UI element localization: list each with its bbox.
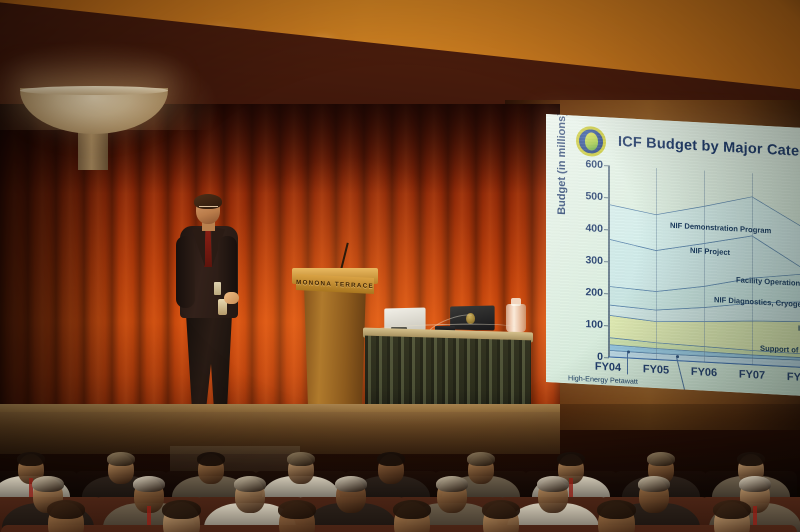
audience-member-hair xyxy=(737,452,765,466)
x-tick-fy06: FY06 xyxy=(691,366,717,379)
seal-emblem-icon xyxy=(585,132,598,151)
speaker-legs xyxy=(184,314,234,410)
y-tick-600: 600 xyxy=(585,158,603,171)
audience-member-hair xyxy=(234,476,267,492)
lectern-sign-text: MONONA TERRACE xyxy=(296,278,374,289)
audience-member-hair xyxy=(482,500,520,519)
audience-member-hair xyxy=(436,476,469,492)
x-tick-fy08: FY08 xyxy=(787,371,800,384)
audience-member-hair xyxy=(197,452,225,466)
audience-member-hair xyxy=(335,476,368,492)
lectern-body xyxy=(300,290,370,420)
audience-member-hair xyxy=(467,452,495,466)
y-axis xyxy=(608,165,610,357)
speaker-name-badge xyxy=(214,282,221,295)
gridline xyxy=(752,173,753,365)
audience-member-hair xyxy=(107,452,135,466)
callout-line-ppicf xyxy=(676,357,686,395)
agency-seal-logo xyxy=(576,126,606,158)
bowl-light-rim xyxy=(20,86,168,95)
projection-screen: ICF Budget by Major Category Budget (in … xyxy=(546,114,800,396)
x-tick-fy07: FY07 xyxy=(739,368,765,381)
audience-member-hair xyxy=(278,500,316,519)
y-tick-200: 200 xyxy=(585,286,603,299)
y-axis-label: Budget (in millions) xyxy=(556,114,568,215)
audience-member-hair xyxy=(377,452,405,466)
auditorium-photo: ICF Budget by Major Category Budget (in … xyxy=(0,0,800,532)
eyeglasses-icon xyxy=(199,206,218,211)
speaker-arm xyxy=(176,236,195,308)
audience-member-hair xyxy=(17,452,45,466)
audience-member-hair xyxy=(557,452,585,466)
audience-member-hair xyxy=(647,452,675,466)
projected-slide: ICF Budget by Major Category Budget (in … xyxy=(546,114,800,396)
audience-member-hair xyxy=(47,500,85,519)
audience-member-hair xyxy=(638,476,671,492)
gridline xyxy=(656,168,657,360)
audience-member-hair xyxy=(393,500,431,519)
y-tick-400: 400 xyxy=(585,222,603,235)
callout-line-hepl xyxy=(627,352,628,374)
chart-plot-area: Budget (in millions) 600 500 400 300 200… xyxy=(608,165,800,370)
y-tick-300: 300 xyxy=(585,254,603,267)
speaker-hand xyxy=(224,292,239,304)
x-tick-fy04: FY04 xyxy=(595,361,621,374)
x-tick-fy05: FY05 xyxy=(643,363,669,376)
speaker-presenter xyxy=(170,196,248,418)
audience-member-hair xyxy=(133,476,166,492)
y-tick-500: 500 xyxy=(585,190,603,203)
sconce-stem xyxy=(78,130,108,170)
audience-member-hair xyxy=(739,476,772,492)
y-tick-100: 100 xyxy=(585,318,603,331)
audience-member-hair xyxy=(537,476,570,492)
audience-member-hair xyxy=(287,452,315,466)
audience-member-hair xyxy=(597,500,635,519)
audience-member-hair xyxy=(32,476,65,492)
audience-member-hair xyxy=(162,500,200,519)
gridline xyxy=(704,171,705,363)
slide-title: ICF Budget by Major Category xyxy=(618,134,800,162)
audience-member-hair xyxy=(713,500,751,519)
audience xyxy=(0,404,800,532)
